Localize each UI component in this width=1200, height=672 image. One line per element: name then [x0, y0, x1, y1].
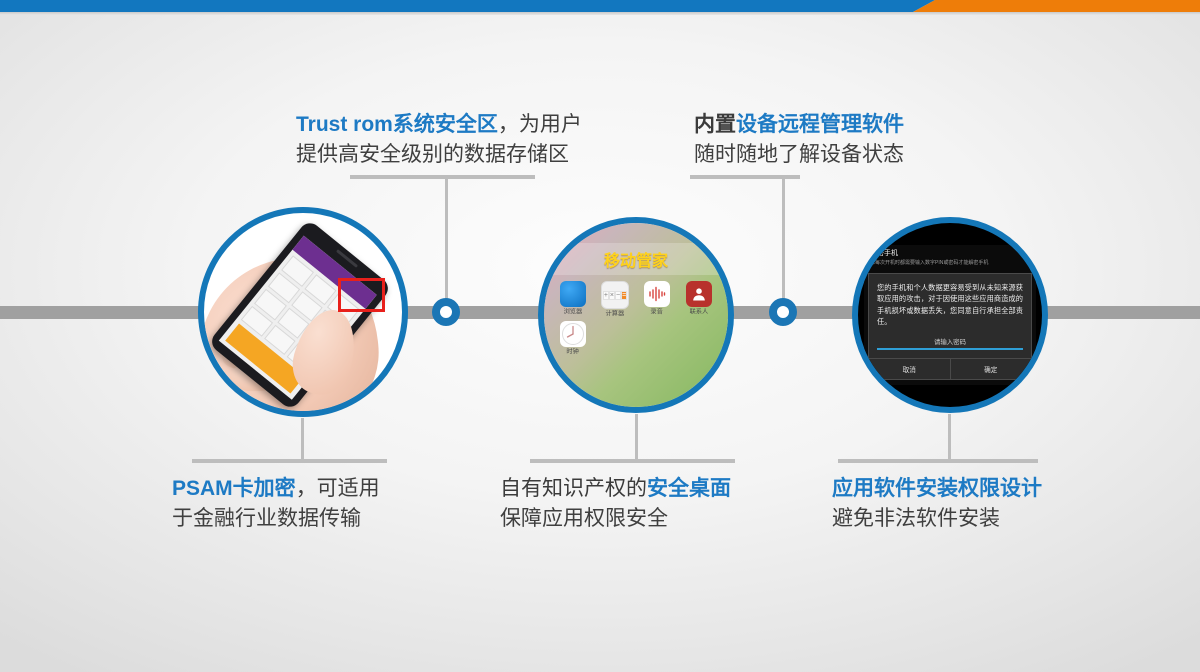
graphic-hand-holding-phone — [198, 207, 408, 417]
top-bar-shadow — [0, 12, 1200, 15]
android-desktop: 移动管家 浏览器 + × − = 计算器 — [544, 223, 728, 407]
callout-line-1: 自有知识产权的安全桌面 — [500, 474, 731, 504]
callout-highlight: Trust rom系统安全区 — [296, 113, 498, 136]
callout-highlight: 安全桌面 — [647, 477, 731, 500]
callout-plain: 自有知识产权的 — [500, 477, 647, 500]
desktop-app-grid: 浏览器 + × − = 计算器 — [552, 281, 720, 355]
callout-line-secure-desktop — [530, 459, 735, 463]
encryption-subtitle: 您每次开机时都需要输入数字PIN或密码才能解密手机 — [870, 260, 1030, 268]
desktop-title: 移动管家 — [544, 247, 728, 271]
callout-line-1: 内置设备远程管理软件 — [694, 110, 904, 140]
callout-secure-desktop: 自有知识产权的安全桌面 保障应用权限安全 — [500, 474, 731, 534]
callout-rest: ，可适用 — [296, 477, 380, 500]
password-input-underline — [877, 348, 1023, 350]
callout-line-psam — [192, 459, 387, 463]
connector-stem-node-right — [782, 176, 785, 300]
app-recorder[interactable]: 录音 — [636, 281, 678, 317]
app-label: 录音 — [651, 308, 663, 316]
callout-trust-rom: Trust rom系统安全区，为用户 提供高安全级别的数据存储区 — [296, 110, 582, 170]
graphic-encrypted-phone: 加密手机 您每次开机时都需要输入数字PIN或密码才能解密手机 您的手机和个人数据… — [852, 217, 1048, 413]
app-contacts[interactable]: 联系人 — [678, 281, 720, 317]
callout-plain: 内置 — [694, 113, 736, 136]
password-input[interactable]: 请输入密码 — [877, 337, 1023, 348]
confirm-button[interactable]: 确定 — [951, 359, 1032, 379]
calculator-icon: + × − = — [601, 281, 629, 309]
calc-key-equals: = — [621, 291, 627, 300]
encryption-title: 加密手机 — [870, 248, 1036, 258]
top-accent-bar — [0, 0, 1200, 12]
app-label: 时钟 — [567, 348, 579, 356]
graphic-secure-desktop: 移动管家 浏览器 + × − = 计算器 — [538, 217, 734, 413]
callout-highlight: PSAM卡加密 — [172, 477, 296, 500]
callout-psam-card: PSAM卡加密，可适用 于金融行业数据传输 — [172, 474, 380, 534]
app-calculator[interactable]: + × − = 计算器 — [594, 281, 636, 317]
callout-line-2: 提供高安全级别的数据存储区 — [296, 140, 582, 170]
red-highlight-box — [338, 278, 385, 312]
callout-line-install-permission — [838, 459, 1038, 463]
callout-highlight: 应用软件安装权限设计 — [832, 477, 1042, 500]
callout-line-1: Trust rom系统安全区，为用户 — [296, 110, 582, 140]
cancel-button[interactable]: 取消 — [869, 359, 951, 379]
callout-line-2: 保障应用权限安全 — [500, 504, 731, 534]
callout-stem-secure-desktop — [635, 414, 638, 461]
connector-stem-node-left — [445, 176, 448, 300]
callout-remote-management: 内置设备远程管理软件 随时随地了解设备状态 — [694, 110, 904, 170]
connector-node-right — [769, 298, 797, 326]
callout-line-1: 应用软件安装权限设计 — [832, 474, 1042, 504]
clock-icon — [560, 321, 586, 347]
app-browser[interactable]: 浏览器 — [552, 281, 594, 317]
callout-line-remote-management — [690, 175, 800, 179]
app-clock[interactable]: 时钟 — [552, 321, 594, 355]
encryption-dialog: 您的手机和个人数据更容易受到从未知来源获取应用的攻击，对于因使用这些应用商造成的… — [868, 273, 1032, 381]
contacts-icon — [686, 281, 712, 307]
browser-icon — [560, 281, 586, 307]
callout-stem-install-permission — [948, 414, 951, 461]
top-accent-orange-segment — [913, 0, 1200, 12]
callout-line-2: 随时随地了解设备状态 — [694, 140, 904, 170]
callout-line-2: 避免非法软件安装 — [832, 504, 1042, 534]
app-label: 浏览器 — [564, 308, 583, 316]
top-accent-blue-segment — [0, 0, 935, 12]
callout-rest: ，为用户 — [498, 113, 582, 136]
callout-line-2: 于金融行业数据传输 — [172, 504, 380, 534]
app-label: 计算器 — [606, 310, 625, 318]
callout-stem-psam — [301, 418, 304, 461]
encryption-screen: 加密手机 您每次开机时都需要输入数字PIN或密码才能解密手机 您的手机和个人数据… — [864, 245, 1036, 385]
callout-highlight: 设备远程管理软件 — [736, 113, 904, 136]
callout-line-trust-rom — [350, 175, 535, 179]
app-label: 联系人 — [690, 308, 709, 316]
connector-node-left — [432, 298, 460, 326]
callout-install-permission: 应用软件安装权限设计 避免非法软件安装 — [832, 474, 1042, 534]
callout-line-1: PSAM卡加密，可适用 — [172, 474, 380, 504]
recorder-icon — [644, 281, 670, 307]
encryption-warning-text: 您的手机和个人数据更容易受到从未知来源获取应用的攻击，对于因使用这些应用商造成的… — [869, 274, 1031, 335]
dialog-button-row: 取消 确定 — [869, 358, 1031, 379]
